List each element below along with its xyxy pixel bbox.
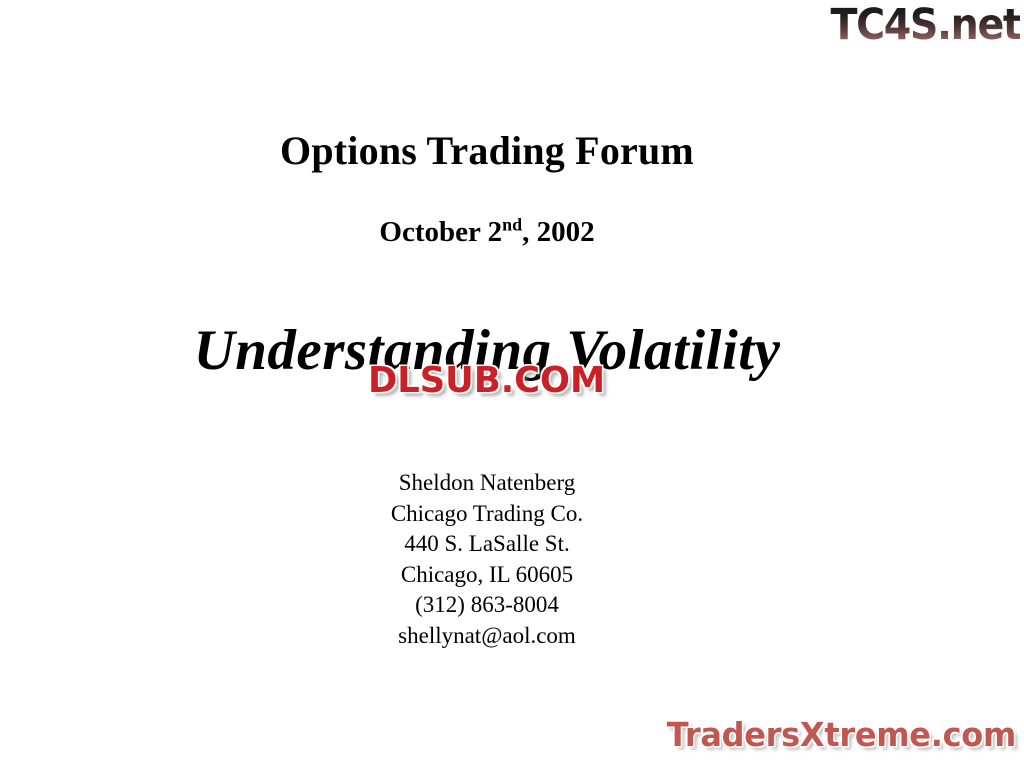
presenter-contact-block: Sheldon Natenberg Chicago Trading Co. 44… bbox=[0, 468, 1024, 651]
event-date-year: , 2002 bbox=[522, 216, 595, 248]
tradersxtreme-com-watermark: TradersXtreme.com bbox=[667, 716, 1016, 754]
event-date-monthday: October 2 bbox=[379, 216, 502, 248]
contact-line-city-state-zip: Chicago, IL 60605 bbox=[0, 560, 974, 591]
dlsub-com-watermark: DLSUB.COM bbox=[368, 362, 605, 400]
event-date-ordinal-suffix: nd bbox=[502, 214, 522, 234]
presentation-slide: TC4S.net Options Trading Forum October 2… bbox=[0, 0, 1024, 768]
contact-line-email: shellynat@aol.com bbox=[0, 621, 974, 652]
event-date: October 2nd, 2002 bbox=[0, 213, 1024, 251]
contact-line-name: Sheldon Natenberg bbox=[0, 468, 974, 499]
tc4s-net-logo-watermark: TC4S.net bbox=[830, 2, 1020, 48]
contact-line-street: 440 S. LaSalle St. bbox=[0, 529, 974, 560]
contact-line-company: Chicago Trading Co. bbox=[0, 499, 974, 530]
contact-line-phone: (312) 863-8004 bbox=[0, 590, 974, 621]
page-title: Options Trading Forum bbox=[0, 126, 1024, 176]
